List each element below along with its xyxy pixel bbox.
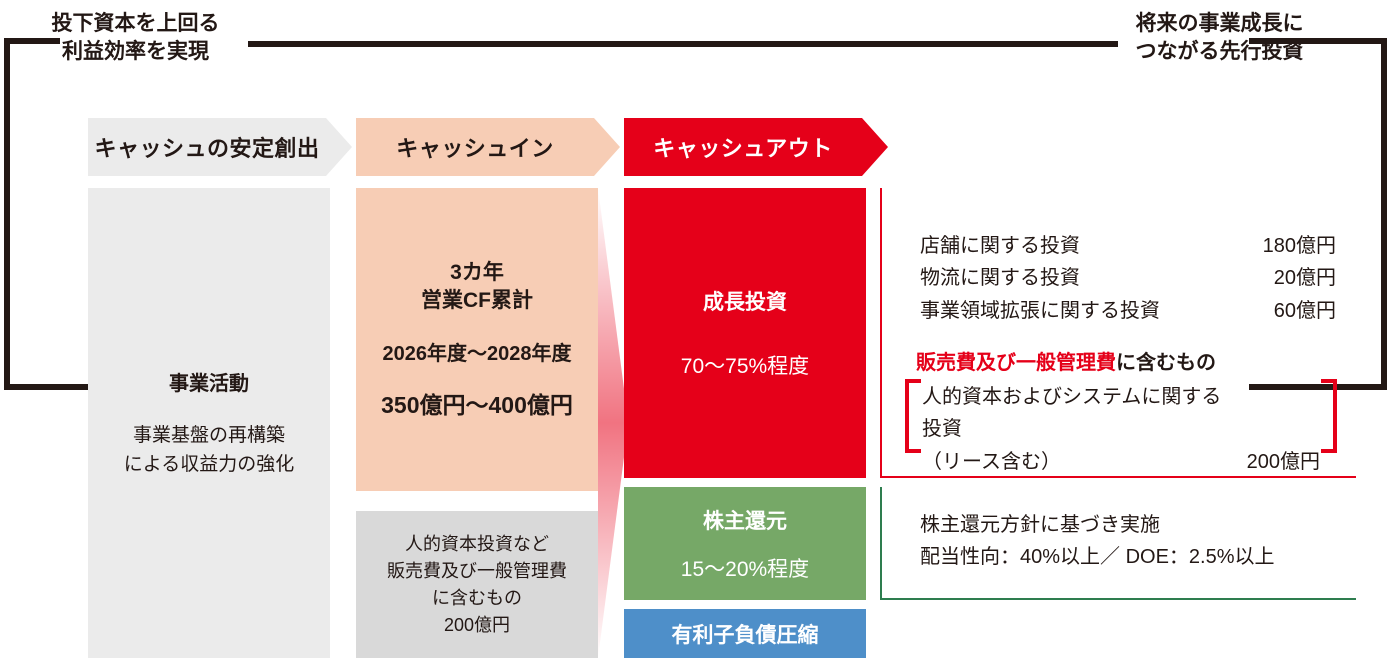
sga-row-list: 人的資本およびシステムに関する投資 （リース含む） 200億円: [922, 381, 1320, 478]
business-activity-title: 事業活動: [169, 367, 249, 396]
cash-flow-funnel-gradient: [598, 188, 626, 658]
cash-out-debt-reduction-block: 有利子負債圧縮: [624, 609, 866, 658]
sga-row-label: （リース含む）: [922, 446, 1061, 478]
sga-inclusion-heading: 販売費及び一般管理費に含むもの: [916, 346, 1216, 375]
investment-row: 店舗に関する投資 180億円: [920, 230, 1336, 262]
shareholder-return-line: 配当性向：40%以上／ DOE：2.5%以上: [920, 541, 1340, 573]
sga-row: （リース含む） 200億円: [922, 446, 1320, 478]
investment-row: 物流に関する投資 20億円: [920, 262, 1336, 294]
flow-header-cash-in: キャッシュイン: [356, 118, 620, 176]
sga-row: 人的資本およびシステムに関する投資: [922, 381, 1320, 446]
business-activity-body: 事業基盤の再構築 による収益力の強化: [124, 422, 294, 479]
flow-header-cash-stability: キャッシュの安定創出: [88, 118, 352, 176]
cash-in-period: 2026年度〜2028年度: [383, 337, 572, 366]
sga-row-amount: [1228, 381, 1320, 446]
flow-header-label: キャッシュイン: [396, 131, 554, 163]
shareholder-return-line: 株主還元方針に基づき実施: [920, 509, 1340, 541]
flow-header-label: キャッシュアウト: [653, 131, 833, 163]
growth-investment-detail-panel: 店舗に関する投資 180億円 物流に関する投資 20億円 事業領域拡張に関する投…: [880, 188, 1356, 478]
sga-row-amount: 200億円: [1228, 446, 1320, 478]
business-activity-box: 事業活動 事業基盤の再構築 による収益力の強化: [88, 188, 330, 658]
cash-in-heading: 3カ年 営業CF累計: [421, 259, 533, 316]
shareholder-return-title: 株主還元: [703, 505, 787, 535]
growth-investment-share: 70〜75%程度: [681, 350, 809, 380]
shareholder-return-line-list: 株主還元方針に基づき実施 配当性向：40%以上／ DOE：2.5%以上: [920, 509, 1340, 574]
shareholder-return-share: 15〜20%程度: [681, 553, 809, 583]
sga-row-label: 人的資本およびシステムに関する投資: [922, 381, 1228, 446]
investment-row-label: 物流に関する投資: [920, 262, 1080, 294]
investment-row-label: 店舗に関する投資: [920, 230, 1080, 262]
cash-out-growth-investment-block: 成長投資 70〜75%程度: [624, 188, 866, 478]
cash-out-shareholder-return-block: 株主還元 15〜20%程度: [624, 487, 866, 600]
investment-row: 事業領域拡張に関する投資 60億円: [920, 295, 1336, 327]
investment-row-label: 事業領域拡張に関する投資: [920, 295, 1160, 327]
debt-reduction-title: 有利子負債圧縮: [672, 619, 819, 649]
investment-row-amount: 60億円: [1244, 295, 1336, 327]
investment-row-amount: 180億円: [1244, 230, 1336, 262]
cash-in-amount: 350億円〜400億円: [381, 386, 573, 420]
cash-in-box: 3カ年 営業CF累計 2026年度〜2028年度 350億円〜400億円: [356, 188, 598, 491]
sga-heading-rest: に含むもの: [1116, 352, 1216, 374]
sga-heading-highlight: 販売費及び一般管理費: [916, 352, 1116, 374]
flow-header-cash-out: キャッシュアウト: [624, 118, 888, 176]
flow-header-label: キャッシュの安定創出: [94, 131, 319, 163]
growth-investment-title: 成長投資: [703, 286, 787, 316]
cash-in-note-box: 人的資本投資など 販売費及び一般管理費 に含むもの 200億円: [356, 511, 598, 658]
shareholder-return-detail-panel: 株主還元方針に基づき実施 配当性向：40%以上／ DOE：2.5%以上: [880, 487, 1356, 600]
top-connector-rule: [248, 41, 1118, 47]
diagram-canvas: 投下資本を上回る 利益効率を実現 将来の事業成長に つながる先行投資 キャッシュ…: [0, 0, 1389, 661]
investment-row-amount: 20億円: [1244, 262, 1336, 294]
growth-investment-row-list: 店舗に関する投資 180億円 物流に関する投資 20億円 事業領域拡張に関する投…: [920, 230, 1336, 327]
